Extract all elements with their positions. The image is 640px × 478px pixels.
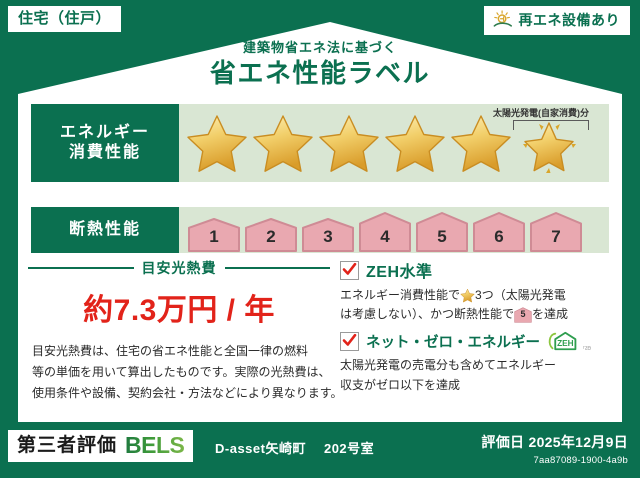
bels-badge: 第三者評価 BELS — [8, 430, 193, 462]
bels-logo-text: BELS — [125, 434, 184, 457]
evaluation-info: 評価日 2025年12月9日 7aa87089-1900-4a9b — [481, 432, 628, 466]
criterion-net-zero-body: 太陽光発電の売電分も含めてエネルギー 収支がゼロ以下を達成 — [340, 356, 614, 394]
cost-note-line-2: 等の単価を用いて算出したものです。実際の光熱費は、 — [32, 362, 326, 383]
checkbox-checked-icon — [340, 332, 359, 351]
mini-insulation-badge: 5 — [514, 307, 532, 323]
evaluation-id: 7aa87089-1900-4a9b — [481, 455, 628, 466]
utility-cost-heading: 目安光熱費 — [28, 258, 330, 278]
title-main: 省エネ性能ラベル — [0, 57, 640, 90]
lower-section: 目安光熱費 約7.3万円 / 年 目安光熱費は、住宅の省エネ性能と全国一律の燃料… — [28, 258, 614, 408]
zeh-body-end: を達成 — [532, 305, 568, 324]
insulation-level-value: 4 — [358, 227, 412, 247]
insulation-label-text: 断熱性能 — [69, 220, 141, 240]
criterion-zeh-title: ZEH水準 — [366, 258, 433, 282]
category-tag: 住宅（住戸） — [8, 6, 121, 32]
zeh-body-pre: エネルギー消費性能で — [340, 286, 460, 305]
insulation-level-badge: 3 — [301, 217, 355, 253]
energy-label-card: 住宅（住戸） 再エネ設備あり 建築物省エネ法に基づく 省エネ性能ラベル エネルギ… — [0, 0, 640, 478]
utility-cost-value: 約7.3万円 / 年 — [28, 285, 330, 329]
solar-annotation-bracket — [513, 120, 589, 130]
insulation-level-badge: 1 — [187, 217, 241, 253]
renewable-badge-label: 再エネ設備あり — [519, 13, 621, 27]
criterion-zeh-header: ZEH水準 — [340, 258, 614, 282]
criterion-zeh-level: ZEH水準 エネルギー消費性能で 3つ（太陽光発電 は考慮しない）、かつ断熱性能… — [340, 258, 614, 324]
insulation-level-value: 5 — [415, 227, 469, 247]
star-icon — [185, 112, 249, 174]
net-zero-body-line-2: 収支がゼロ以下を達成 — [340, 376, 614, 395]
zeh-body-star-count: 3つ（太陽光発電 — [475, 286, 566, 305]
star-icon — [383, 112, 447, 174]
insulation-level-badge: 5 — [415, 211, 469, 253]
star-icon — [317, 112, 381, 174]
criterion-net-zero-title: ネット・ゼロ・エネルギー — [366, 331, 540, 352]
label-title: 建築物省エネ法に基づく 省エネ性能ラベル — [0, 40, 640, 89]
insulation-level-badge: 6 — [472, 211, 526, 253]
insulation-level-value: 1 — [187, 227, 241, 247]
criterion-net-zero-header: ネット・ゼロ・エネルギー ZEH 「ZEH」 — [340, 330, 614, 352]
room-number: 202号室 — [324, 438, 374, 457]
insulation-level-badge: 2 — [244, 217, 298, 253]
energy-performance-label: エネルギー 消費性能 — [31, 104, 179, 182]
cost-note-line-3: 使用条件や設備、契約会社・方法などにより異なります。 — [32, 383, 326, 404]
net-zero-body-line-1: 太陽光発電の売電分も含めてエネルギー — [340, 356, 614, 375]
star-icon — [449, 112, 513, 174]
star-icon — [251, 112, 315, 174]
zeh-house-logo-icon: ZEH 「ZEH」 — [547, 330, 591, 352]
solar-annotation-text: 太陽光発電(自家消費)分 — [493, 106, 589, 119]
label-footer: 第三者評価 BELS D-asset矢崎町 202号室 評価日 2025年12月… — [0, 422, 640, 478]
renewable-energy-badge: 再エネ設備あり — [484, 6, 631, 35]
zeh-body-mid: は考慮しない）、かつ断熱性能で — [340, 305, 514, 324]
insulation-level-list: 1234567 — [179, 207, 583, 253]
title-subtitle: 建築物省エネ法に基づく — [0, 40, 640, 56]
building-info: D-asset矢崎町 202号室 — [215, 438, 374, 457]
checkbox-checked-icon — [340, 261, 359, 280]
insulation-levels-panel: 1234567 — [179, 207, 609, 253]
energy-stars-panel: 太陽光発電(自家消費)分 — [179, 104, 609, 182]
svg-text:「ZEH」: 「ZEH」 — [581, 345, 591, 351]
insulation-level-value: 3 — [301, 227, 355, 247]
criterion-net-zero-energy: ネット・ゼロ・エネルギー ZEH 「ZEH」 太陽光発電の売電分も含めてエネルギ… — [340, 330, 614, 394]
criterion-zeh-body: エネルギー消費性能で 3つ（太陽光発電 は考慮しない）、かつ断熱性能で 5 — [340, 286, 614, 324]
cost-note-line-1: 目安光熱費は、住宅の省エネ性能と全国一律の燃料 — [32, 341, 326, 362]
bels-jp-label: 第三者評価 — [17, 436, 117, 455]
energy-label-line1: エネルギー — [60, 123, 150, 143]
mini-badge-value: 5 — [514, 307, 532, 321]
mini-star-icon — [460, 288, 475, 303]
utility-cost-column: 目安光熱費 約7.3万円 / 年 目安光熱費は、住宅の省エネ性能と全国一律の燃料… — [28, 258, 330, 408]
insulation-level-value: 2 — [244, 227, 298, 247]
heading-rule-right — [225, 267, 331, 269]
utility-cost-heading-text: 目安光熱費 — [142, 258, 217, 278]
heading-rule-left — [28, 267, 134, 269]
utility-cost-note: 目安光熱費は、住宅の省エネ性能と全国一律の燃料 等の単価を用いて算出したものです… — [28, 341, 330, 404]
insulation-level-badge: 7 — [529, 211, 583, 253]
insulation-performance-label: 断熱性能 — [31, 207, 179, 253]
evaluation-date: 評価日 2025年12月9日 — [481, 432, 628, 452]
insulation-level-value: 6 — [472, 227, 526, 247]
sun-icon — [492, 10, 514, 30]
energy-performance-row: エネルギー 消費性能 — [31, 104, 609, 182]
insulation-performance-row: 断熱性能 1234567 — [31, 207, 609, 253]
building-name: D-asset矢崎町 — [215, 438, 306, 457]
energy-label-line2: 消費性能 — [69, 143, 141, 163]
insulation-level-badge: 4 — [358, 211, 412, 253]
criteria-column: ZEH水準 エネルギー消費性能で 3つ（太陽光発電 は考慮しない）、かつ断熱性能… — [330, 258, 614, 408]
svg-text:ZEH: ZEH — [557, 339, 574, 348]
insulation-level-value: 7 — [529, 227, 583, 247]
